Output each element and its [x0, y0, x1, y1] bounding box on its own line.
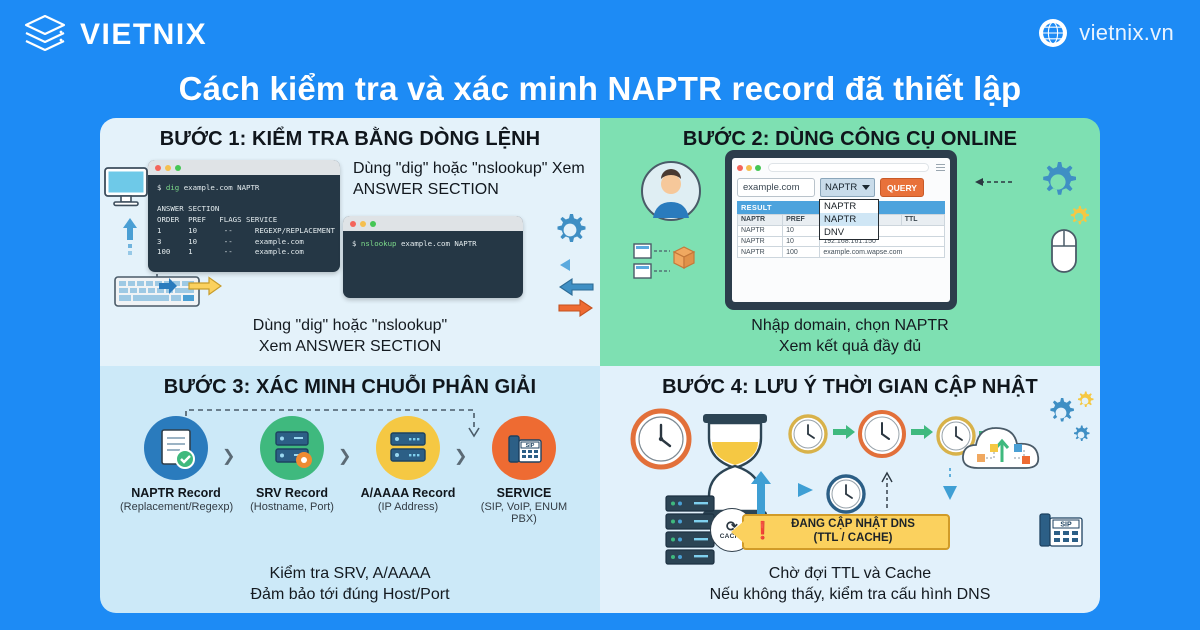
- step-1-note-line-1: Dùng "dig" hoặc "nslookup": [353, 160, 547, 177]
- step-1-title: BƯỚC 1: KIỂM TRA BẰNG DÒNG LỆNH: [100, 118, 600, 151]
- arrow-right-blue-icon: [796, 482, 814, 498]
- gear-icon: [1074, 390, 1096, 412]
- table-header-cell: PREF: [783, 215, 820, 226]
- arrow-down-blue-icon: [942, 466, 958, 506]
- arrow-left-blue-icon: [558, 278, 594, 296]
- step-2-caption-line-1: Nhập domain, chọn NAPTR: [600, 315, 1100, 336]
- table-cell: NAPTR: [738, 247, 783, 258]
- terminal-dig-body: $ dig example.com NAPTR ANSWER SECTION O…: [148, 175, 340, 266]
- node-label: SERVICE: [468, 486, 580, 500]
- warning-icon: ❗: [752, 521, 773, 541]
- arrow-right-yellow-icon: [188, 276, 222, 296]
- svg-text:SIP: SIP: [526, 443, 535, 449]
- terminal-args: example.com NAPTR: [184, 183, 260, 192]
- node-sublabel: (Replacement/Regexp): [120, 501, 232, 513]
- minimize-dot-icon: [360, 221, 366, 227]
- step-2-caption: Nhập domain, chọn NAPTR Xem kết quả đầy …: [600, 315, 1100, 357]
- table-cell: example.com.wapse.com: [820, 247, 945, 258]
- close-dot-icon: [155, 165, 161, 171]
- table-cell: 10: [783, 236, 820, 247]
- step-4-caption: Chờ đợi TTL và Cache Nếu không thấy, kiể…: [600, 563, 1100, 605]
- page-header: VIETNIX vietnix.vn: [0, 0, 1200, 68]
- terminal-titlebar: [148, 160, 340, 175]
- chevron-right-icon: ❯: [454, 446, 467, 466]
- gear-icon: [550, 210, 590, 250]
- browser-window: example.com NAPTR NAPTR NAPTR DNV QUERY: [732, 158, 950, 302]
- browser-address-bar[interactable]: [768, 163, 929, 172]
- cloud-network-icon: [958, 418, 1048, 480]
- domain-input[interactable]: example.com: [737, 178, 815, 197]
- terminal-prompt: $: [352, 239, 356, 248]
- panel-step-3: BƯỚC 3: XÁC MINH CHUỖI PHÂN GIẢI: [100, 366, 600, 614]
- user-avatar-icon: [640, 160, 702, 222]
- chain-node-naptr: NAPTR Record (Replacement/Regexp): [120, 416, 232, 513]
- node-circle: [144, 416, 208, 480]
- step-2-caption-line-2: Xem kết quả đầy đủ: [600, 336, 1100, 357]
- query-button[interactable]: QUERY: [880, 178, 924, 197]
- step-3-caption-line-1: Kiểm tra SRV, A/AAAA: [100, 563, 600, 584]
- server-stack-icon: [664, 494, 716, 566]
- gear-icon: [1034, 158, 1082, 206]
- minimize-dot-icon: [746, 165, 752, 171]
- chain-node-service: ❯ SIP SERVICE (SIP, VoIP, ENU: [468, 416, 580, 525]
- clock-icon: [630, 408, 692, 470]
- node-sublabel: (SIP, VoIP, ENUM PBX): [468, 501, 580, 525]
- terminal-titlebar: [343, 216, 523, 231]
- mouse-icon: [1050, 228, 1078, 274]
- banner-line-1: ĐANG CẬP NHẬT DNS: [791, 518, 915, 532]
- node-sublabel: (IP Address): [352, 501, 464, 513]
- package-boxes-icon: [632, 238, 710, 288]
- table-cell: NAPTR: [738, 225, 783, 236]
- step-1-note: Dùng "dig" hoặc "nslookup" Xem ANSWER SE…: [353, 158, 600, 200]
- clock-icon: [826, 474, 866, 514]
- panel-step-4: BƯỚC 4: LƯU Ý THỜI GIAN CẬP NHẬT: [600, 366, 1100, 614]
- record-type-select[interactable]: NAPTR NAPTR NAPTR DNV: [820, 178, 875, 197]
- arrow-left-small-icon: [558, 258, 594, 272]
- server-gear-icon: [260, 416, 324, 480]
- chevron-down-icon: [862, 185, 870, 190]
- hamburger-menu-icon[interactable]: [936, 164, 945, 171]
- close-dot-icon: [350, 221, 356, 227]
- document-check-icon: [144, 416, 208, 480]
- page-title: Cách kiểm tra và xác minh NAPTR record đ…: [0, 70, 1200, 108]
- dropdown-option[interactable]: DNV: [820, 226, 878, 239]
- sip-phone-icon: SIP: [1038, 506, 1084, 552]
- terminal-command: nslookup: [361, 239, 397, 248]
- step-4-caption-line-2: Nếu không thấy, kiểm tra cấu hình DNS: [600, 584, 1100, 605]
- step-4-title: BƯỚC 4: LƯU Ý THỜI GIAN CẬP NHẬT: [600, 366, 1100, 399]
- minimize-dot-icon: [165, 165, 171, 171]
- terminal-nslookup-body: $ nslookup example.com NAPTR: [343, 231, 523, 258]
- resolution-chain: NAPTR Record (Replacement/Regexp) ❯: [100, 416, 600, 525]
- maximize-dot-icon: [370, 221, 376, 227]
- arrow-up-dashed-icon: [878, 470, 896, 510]
- step-3-title: BƯỚC 3: XÁC MINH CHUỖI PHÂN GIẢI: [100, 366, 600, 399]
- site-url-text: vietnix.vn: [1079, 20, 1174, 46]
- chain-node-srv: ❯ SRV Record (Hostname, Port: [236, 416, 348, 513]
- arrow-up-blue-icon: [750, 470, 772, 516]
- online-tool-tablet: example.com NAPTR NAPTR NAPTR DNV QUERY: [725, 150, 957, 310]
- node-label: NAPTR Record: [120, 486, 232, 500]
- monitor-icon: [104, 166, 148, 208]
- gear-icon: [1070, 424, 1092, 446]
- terminal-command: dig: [166, 183, 179, 192]
- step-4-caption-line-1: Chờ đợi TTL và Cache: [600, 563, 1100, 584]
- brand-logo[interactable]: VIETNIX: [22, 12, 207, 58]
- maximize-dot-icon: [755, 165, 761, 171]
- arrow-right-blue-icon: [158, 277, 178, 295]
- dropdown-option[interactable]: NAPTR: [820, 200, 878, 213]
- gear-icon: [1066, 204, 1092, 230]
- browser-toolbar: [737, 163, 945, 172]
- clock-icon: [858, 410, 906, 458]
- brand-name: VIETNIX: [80, 18, 207, 52]
- chevron-right-icon: ❯: [222, 446, 235, 466]
- stacked-layers-icon: [22, 12, 68, 58]
- globe-icon: [1038, 18, 1068, 48]
- close-dot-icon: [737, 165, 743, 171]
- chevron-right-icon: ❯: [338, 446, 351, 466]
- banner-line-2: (TTL / CACHE): [791, 532, 915, 546]
- dns-updating-banner: ❗ ĐANG CẬP NHẬT DNS (TTL / CACHE): [742, 514, 950, 550]
- node-sublabel: (Hostname, Port): [236, 501, 348, 513]
- record-type-dropdown[interactable]: NAPTR NAPTR DNV: [819, 199, 879, 240]
- panel-step-1: BƯỚC 1: KIỂM TRA BẰNG DÒNG LỆNH: [100, 118, 600, 366]
- table-cell: 100: [783, 247, 820, 258]
- node-label: SRV Record: [236, 486, 348, 500]
- server-icon: [376, 416, 440, 480]
- table-header-cell: NAPTR: [738, 215, 783, 226]
- node-circle: [260, 416, 324, 480]
- step-1-caption: Dùng "dig" hoặc "nslookup" Xem ANSWER SE…: [100, 315, 600, 357]
- node-label: A/AAAA Record: [352, 486, 464, 500]
- chain-node-a-aaaa: ❯ A/AAAA Record (IP Address): [352, 416, 464, 513]
- panel-step-2: BƯỚC 2: DÙNG CÔNG CỤ ONLINE examp: [600, 118, 1100, 366]
- record-type-value: NAPTR: [825, 182, 857, 193]
- sip-phone-icon: SIP: [492, 416, 556, 480]
- steps-grid: BƯỚC 1: KIỂM TRA BẰNG DÒNG LỆNH: [100, 118, 1100, 613]
- node-circle: [376, 416, 440, 480]
- table-row: NAPTR 100 example.com.wapse.com: [738, 247, 945, 258]
- node-circle: SIP: [492, 416, 556, 480]
- step-1-caption-line-1: Dùng "dig" hoặc "nslookup": [100, 315, 600, 336]
- step-2-title: BƯỚC 2: DÙNG CÔNG CỤ ONLINE: [600, 118, 1100, 151]
- terminal-output: ANSWER SECTION ORDER PREF FLAGS SERVICE …: [157, 204, 335, 256]
- arrow-right-green-icon: [910, 424, 934, 440]
- table-cell: 10: [783, 225, 820, 236]
- terminal-prompt: $: [157, 183, 161, 192]
- arrow-right-green-icon: [832, 424, 856, 440]
- table-header-cell: TTL: [901, 215, 944, 226]
- maximize-dot-icon: [175, 165, 181, 171]
- clock-icon: [788, 414, 828, 454]
- terminal-nslookup[interactable]: $ nslookup example.com NAPTR: [343, 216, 523, 298]
- site-url[interactable]: vietnix.vn: [1038, 18, 1174, 48]
- dropdown-option[interactable]: NAPTR: [820, 213, 878, 226]
- upload-arrow-icon: [122, 216, 138, 258]
- terminal-args: example.com NAPTR: [401, 239, 477, 248]
- step-1-caption-line-2: Xem ANSWER SECTION: [100, 336, 600, 357]
- step-3-caption: Kiểm tra SRV, A/AAAA Đảm bảo tới đúng Ho…: [100, 563, 600, 605]
- query-form: example.com NAPTR NAPTR NAPTR DNV QUERY: [737, 178, 945, 197]
- step-1-arrow-group: [158, 276, 222, 296]
- sip-label: SIP: [1060, 521, 1072, 528]
- terminal-dig[interactable]: $ dig example.com NAPTR ANSWER SECTION O…: [148, 160, 340, 272]
- arrow-left-dashed-icon: [974, 176, 1014, 188]
- step-1-right-arrows: [558, 258, 594, 317]
- step-3-caption-line-2: Đảm bảo tới đúng Host/Port: [100, 584, 600, 605]
- table-cell: NAPTR: [738, 236, 783, 247]
